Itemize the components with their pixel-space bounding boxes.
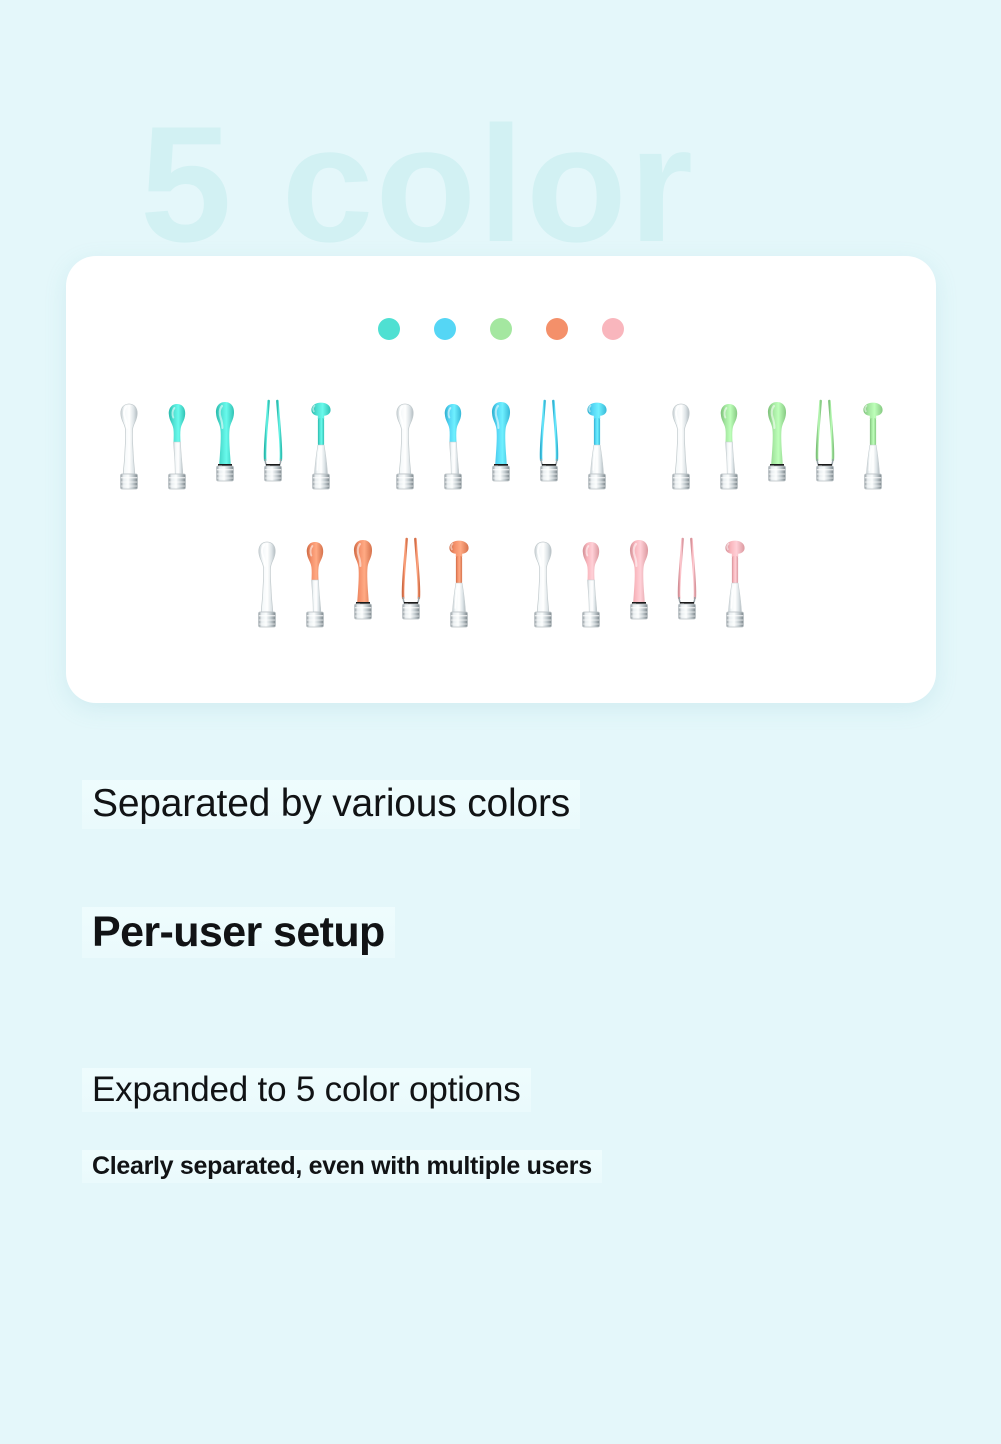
copy-note-line: Clearly separated, even with multiple us… bbox=[82, 1150, 1001, 1183]
tip-turquoise-half-color-bulb-tip bbox=[159, 396, 195, 496]
color-swatch-row bbox=[66, 318, 936, 340]
tip-group-green bbox=[663, 396, 891, 496]
tip-row-bottom bbox=[66, 534, 936, 634]
copy-title-line: Per-user setup bbox=[82, 907, 1001, 958]
tip-turquoise-clear-bulb-tip bbox=[111, 396, 147, 496]
tip-row-top bbox=[66, 396, 936, 496]
watermark-heading: 5 color bbox=[140, 102, 695, 267]
tip-coral-full-color-bulb-tip bbox=[345, 534, 381, 634]
color-swatch-pink[interactable] bbox=[602, 318, 624, 340]
color-swatch-green[interactable] bbox=[490, 318, 512, 340]
copy-note: Clearly separated, even with multiple us… bbox=[82, 1150, 602, 1183]
tip-turquoise-full-color-bulb-tip bbox=[207, 396, 243, 496]
tip-coral-clear-bulb-tip bbox=[249, 534, 285, 634]
tip-pink-half-color-bulb-tip bbox=[573, 534, 609, 634]
tip-turquoise-twin-prong-tip bbox=[255, 396, 291, 496]
tip-coral-half-color-bulb-tip bbox=[297, 534, 333, 634]
tip-group-coral bbox=[249, 534, 477, 634]
tip-green-twin-prong-tip bbox=[807, 396, 843, 496]
tip-turquoise-flat-mushroom-tip bbox=[303, 396, 339, 496]
tip-pink-twin-prong-tip bbox=[669, 534, 705, 634]
tip-sky-blue-clear-bulb-tip bbox=[387, 396, 423, 496]
tip-group-pink bbox=[525, 534, 753, 634]
tip-sky-blue-twin-prong-tip bbox=[531, 396, 567, 496]
tip-green-full-color-bulb-tip bbox=[759, 396, 795, 496]
copy-subhead-line: Expanded to 5 color options bbox=[82, 1068, 1001, 1112]
tip-gallery bbox=[66, 396, 936, 703]
tip-sky-blue-half-color-bulb-tip bbox=[435, 396, 471, 496]
tip-green-flat-mushroom-tip bbox=[855, 396, 891, 496]
tip-sky-blue-flat-mushroom-tip bbox=[579, 396, 615, 496]
copy-title: Per-user setup bbox=[82, 907, 395, 958]
tip-pink-clear-bulb-tip bbox=[525, 534, 561, 634]
tip-green-clear-bulb-tip bbox=[663, 396, 699, 496]
color-swatch-turquoise[interactable] bbox=[378, 318, 400, 340]
color-swatch-sky-blue[interactable] bbox=[434, 318, 456, 340]
color-swatch-coral[interactable] bbox=[546, 318, 568, 340]
product-showcase-card bbox=[66, 256, 936, 703]
tip-coral-twin-prong-tip bbox=[393, 534, 429, 634]
copy-headline: Separated by various colors bbox=[82, 780, 580, 829]
tip-group-sky-blue bbox=[387, 396, 615, 496]
tip-pink-full-color-bulb-tip bbox=[621, 534, 657, 634]
copy-subhead: Expanded to 5 color options bbox=[82, 1068, 531, 1112]
tip-green-half-color-bulb-tip bbox=[711, 396, 747, 496]
marketing-copy: Separated by various colors Per-user set… bbox=[0, 780, 1001, 1183]
tip-pink-flat-mushroom-tip bbox=[717, 534, 753, 634]
tip-sky-blue-full-color-bulb-tip bbox=[483, 396, 519, 496]
copy-headline-line: Separated by various colors bbox=[82, 780, 1001, 829]
tip-group-turquoise bbox=[111, 396, 339, 496]
tip-coral-flat-mushroom-tip bbox=[441, 534, 477, 634]
